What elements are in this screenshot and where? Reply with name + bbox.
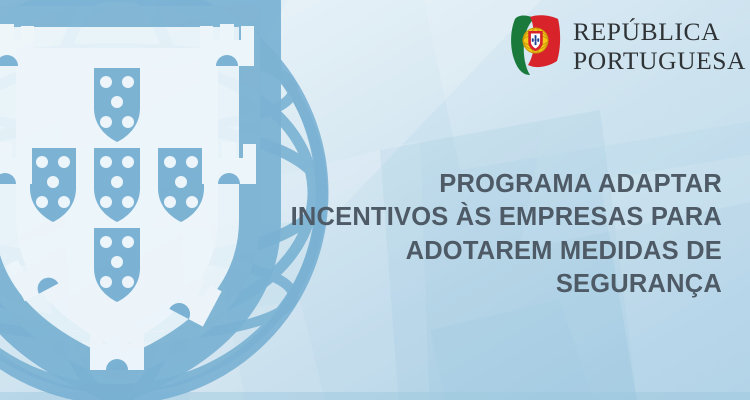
headline-line-2: INCENTIVOS ÀS EMPRESAS PARA bbox=[202, 201, 722, 234]
republica-portuguesa-flag-emblem bbox=[508, 13, 564, 79]
adaptar-program-banner: REPÚBLICA PORTUGUESA PROGRAMA ADAPTAR IN… bbox=[0, 0, 750, 400]
logo-line-1: REPÚBLICA bbox=[573, 19, 746, 45]
headline-line-3: ADOTAREM MEDIDAS DE bbox=[202, 235, 722, 268]
headline: PROGRAMA ADAPTAR INCENTIVOS ÀS EMPRESAS … bbox=[202, 168, 722, 302]
headline-line-1: PROGRAMA ADAPTAR bbox=[202, 168, 722, 201]
republica-portuguesa-logo: REPÚBLICA PORTUGUESA bbox=[508, 13, 746, 79]
logo-line-2: PORTUGUESA bbox=[573, 48, 746, 74]
headline-line-4: SEGURANÇA bbox=[202, 268, 722, 301]
